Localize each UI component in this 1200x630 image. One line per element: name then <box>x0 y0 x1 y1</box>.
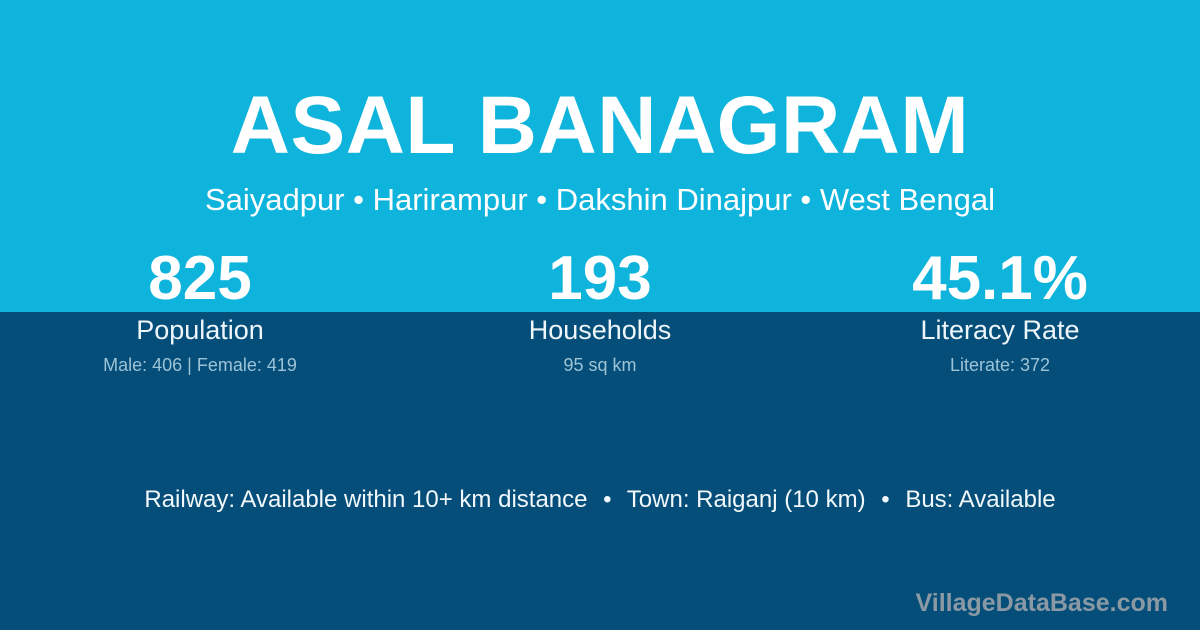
amenities-info-line: Railway: Available within 10+ km distanc… <box>0 484 1200 516</box>
site-brand: VillageDataBase.com <box>916 588 1168 618</box>
stat-label: Literacy Rate <box>800 314 1200 346</box>
stat-value: 45.1% <box>800 246 1200 312</box>
stat-literacy-rate: 45.1% Literacy Rate Literate: 372 <box>800 246 1200 376</box>
page-title: ASAL BANAGRAM <box>0 85 1200 167</box>
bullet-separator-icon: • <box>594 484 620 516</box>
stat-households: 193 Households 95 sq km <box>400 246 800 376</box>
info-town: Town: Raiganj (10 km) <box>627 486 866 513</box>
stat-value: 193 <box>400 246 800 312</box>
bullet-separator-icon: • <box>872 484 898 516</box>
stat-sublabel: 95 sq km <box>400 354 800 376</box>
stat-label: Population <box>0 314 400 346</box>
stats-row: 825 Population Male: 406 | Female: 419 1… <box>0 246 1200 376</box>
breadcrumb: Saiyadpur • Harirampur • Dakshin Dinajpu… <box>0 181 1200 219</box>
stat-sublabel: Male: 406 | Female: 419 <box>0 354 400 376</box>
village-info-card: ASAL BANAGRAM Saiyadpur • Harirampur • D… <box>0 0 1200 630</box>
stat-value: 825 <box>0 246 400 312</box>
info-bus: Bus: Available <box>905 486 1055 513</box>
stat-population: 825 Population Male: 406 | Female: 419 <box>0 246 400 376</box>
stat-label: Households <box>400 314 800 346</box>
stat-sublabel: Literate: 372 <box>800 354 1200 376</box>
info-railway: Railway: Available within 10+ km distanc… <box>144 486 587 513</box>
